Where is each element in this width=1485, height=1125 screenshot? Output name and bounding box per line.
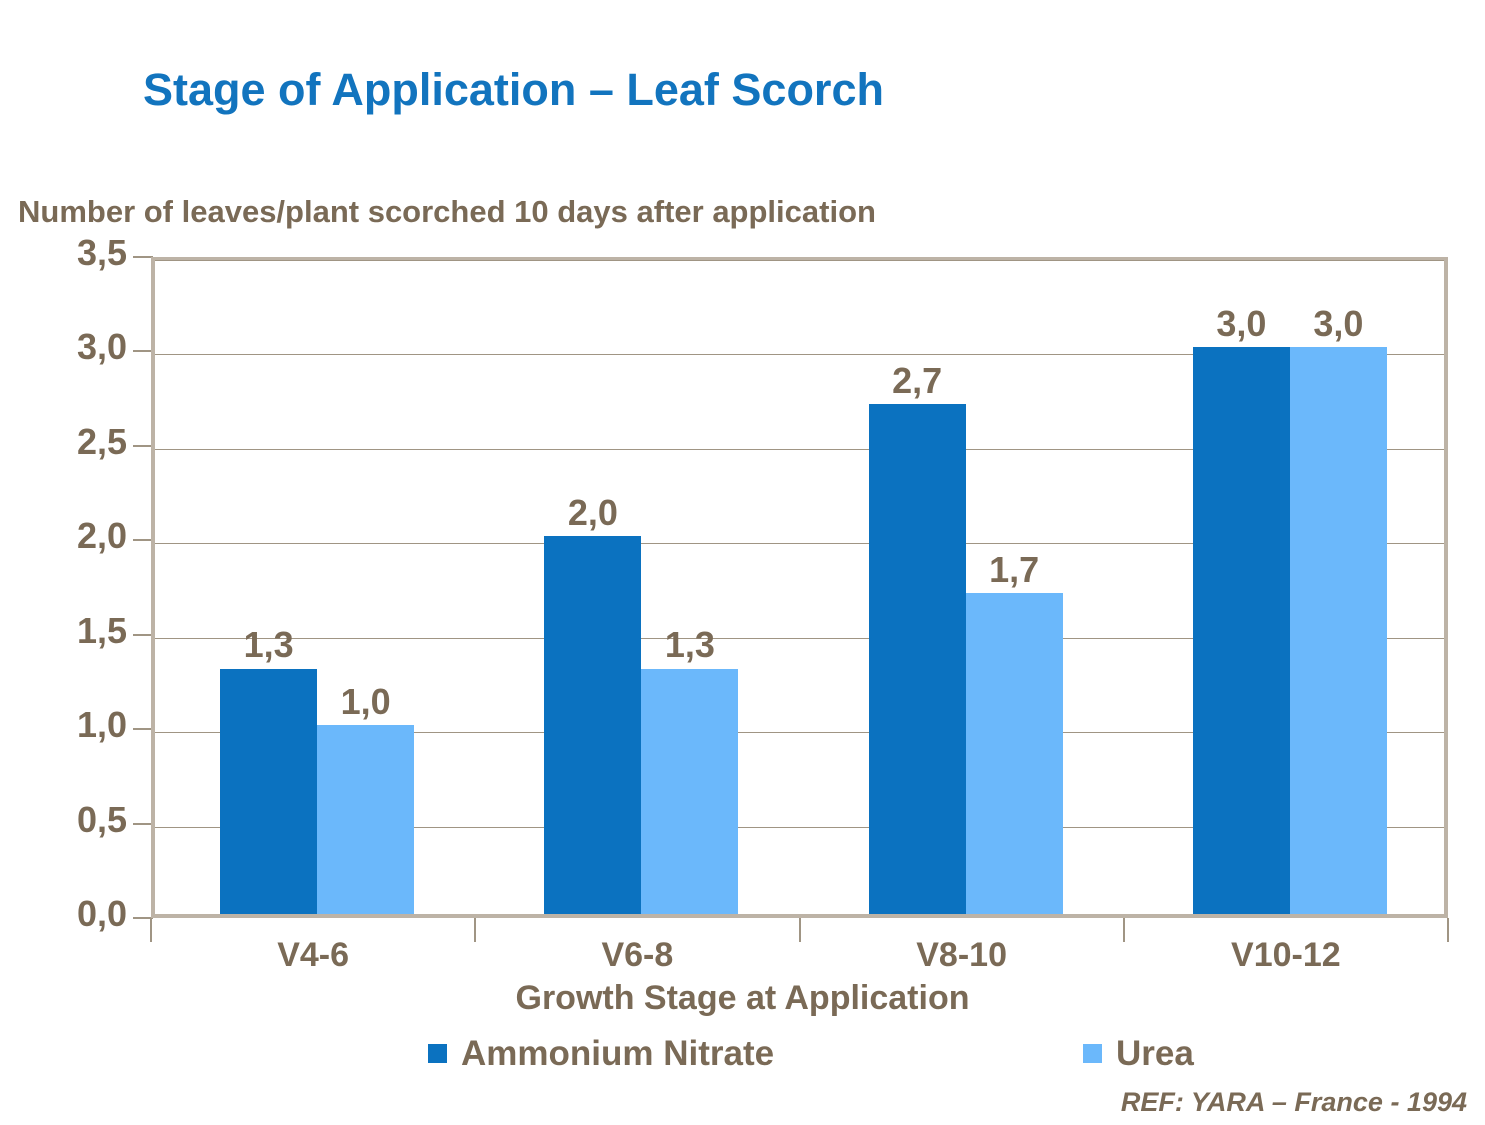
- bar-value-label: 3,0: [1270, 303, 1407, 345]
- x-axis-category-v6-8: V6-8: [475, 936, 799, 975]
- bar-value-label: 1,3: [200, 624, 337, 666]
- y-axis-tick-label: 0,5: [7, 799, 127, 841]
- x-axis-tick: [150, 918, 152, 942]
- reference-note: REF: YARA – France - 1994: [1121, 1087, 1467, 1118]
- bar-value-label: 1,0: [297, 681, 434, 723]
- y-axis-tick: [133, 634, 153, 636]
- y-axis-tick: [133, 445, 153, 447]
- plot-inner: 1,31,02,01,32,71,73,03,0: [155, 261, 1444, 914]
- legend-item-urea[interactable]: Urea: [1083, 1036, 1194, 1071]
- x-axis-title: Growth Stage at Application: [0, 979, 1485, 1018]
- bar-v6-8-ammonium-nitrate[interactable]: [544, 536, 641, 914]
- y-axis-tick: [133, 728, 153, 730]
- x-axis-category-v8-10: V8-10: [800, 936, 1124, 975]
- y-axis-tick-label: 3,5: [7, 232, 127, 274]
- y-axis-tick: [133, 350, 153, 352]
- y-axis-tick: [133, 256, 153, 258]
- gridline: [155, 260, 1444, 261]
- bar-v10-12-urea[interactable]: [1290, 347, 1387, 914]
- x-axis-category-v4-6: V4-6: [151, 936, 475, 975]
- bar-value-label: 2,0: [524, 492, 661, 534]
- bar-value-label: 1,7: [946, 549, 1083, 591]
- bar-value-label: 2,7: [849, 360, 986, 402]
- bar-v4-6-urea[interactable]: [317, 725, 414, 914]
- legend-item-ammonium-nitrate[interactable]: Ammonium Nitrate: [428, 1036, 774, 1071]
- chart-subtitle: Number of leaves/plant scorched 10 days …: [18, 194, 876, 230]
- y-axis-tick: [133, 823, 153, 825]
- page-title: Stage of Application – Leaf Scorch: [143, 64, 884, 116]
- legend-swatch-icon: [1083, 1044, 1102, 1063]
- y-axis-tick-label: 0,0: [7, 893, 127, 935]
- legend-swatch-icon: [428, 1044, 447, 1063]
- y-axis-tick-label: 1,5: [7, 610, 127, 652]
- chart-legend: Ammonium NitrateUrea: [0, 1036, 1485, 1082]
- y-axis-tick: [133, 539, 153, 541]
- bar-v8-10-ammonium-nitrate[interactable]: [869, 404, 966, 914]
- bar-v10-12-ammonium-nitrate[interactable]: [1193, 347, 1290, 914]
- plot-area: 1,31,02,01,32,71,73,03,0: [151, 257, 1448, 918]
- y-axis-tick-label: 1,0: [7, 704, 127, 746]
- y-axis-tick-label: 2,5: [7, 421, 127, 463]
- x-axis-category-v10-12: V10-12: [1124, 936, 1448, 975]
- y-axis-tick-label: 3,0: [7, 326, 127, 368]
- legend-label: Urea: [1116, 1036, 1194, 1071]
- bar-v6-8-urea[interactable]: [641, 669, 738, 915]
- legend-label: Ammonium Nitrate: [461, 1036, 774, 1071]
- y-axis-tick-label: 2,0: [7, 515, 127, 557]
- bar-value-label: 1,3: [621, 624, 758, 666]
- bar-v8-10-urea[interactable]: [966, 593, 1063, 914]
- x-axis-tick: [1447, 918, 1449, 942]
